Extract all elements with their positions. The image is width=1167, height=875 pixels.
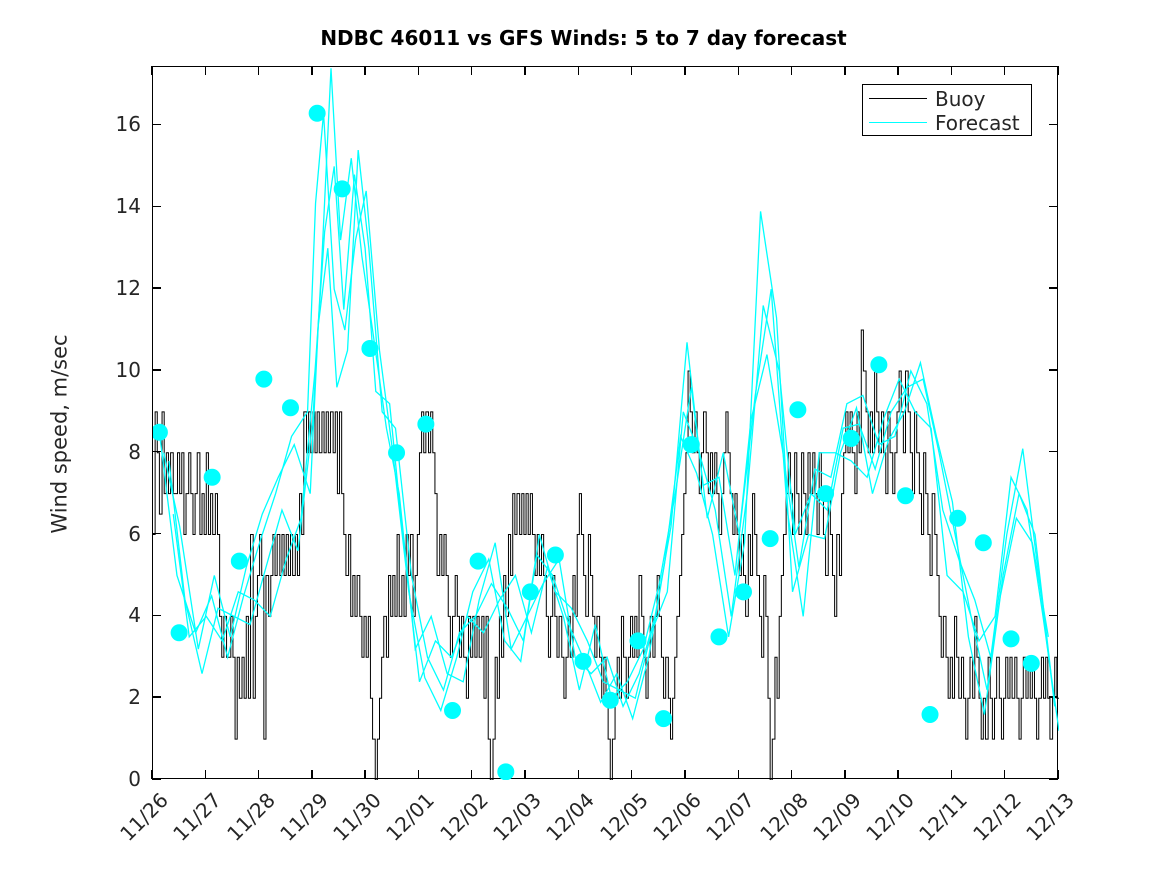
x-tick-label: 12/03 bbox=[481, 788, 546, 853]
page-title: NDBC 46011 vs GFS Winds: 5 to 7 day fore… bbox=[0, 26, 1167, 50]
forecast-marker-point bbox=[470, 553, 486, 569]
legend: Buoy Forecast bbox=[862, 84, 1032, 136]
y-tick-label: 10 bbox=[95, 358, 141, 382]
y-tick-label: 0 bbox=[95, 767, 141, 791]
forecast-marker-point bbox=[736, 584, 752, 600]
plot-area bbox=[152, 66, 1058, 779]
legend-label-forecast: Forecast bbox=[935, 113, 1020, 133]
forecast-marker-point bbox=[922, 707, 938, 723]
y-tick-label: 6 bbox=[95, 522, 141, 546]
y-tick-label: 14 bbox=[95, 194, 141, 218]
forecast-marker-point bbox=[171, 625, 187, 641]
x-tick-label: 12/07 bbox=[694, 788, 759, 853]
forecast-marker-point bbox=[871, 357, 887, 373]
forecast-marker-point bbox=[683, 437, 699, 453]
x-tick-label: 11/30 bbox=[321, 788, 386, 853]
forecast-marker-point bbox=[818, 486, 834, 502]
forecast-series-line bbox=[169, 68, 1055, 706]
forecast-marker-point bbox=[602, 692, 618, 708]
y-tick-label: 12 bbox=[95, 276, 141, 300]
forecast-marker-point bbox=[762, 531, 778, 547]
forecast-marker-point bbox=[950, 510, 966, 526]
forecast-marker-point bbox=[898, 488, 914, 504]
forecast-marker-point bbox=[418, 416, 434, 432]
forecast-marker-point bbox=[1023, 655, 1039, 671]
x-tick-label: 12/02 bbox=[428, 788, 493, 853]
forecast-marker-point bbox=[445, 702, 461, 718]
x-tick-label: 12/10 bbox=[854, 788, 919, 853]
forecast-marker-point bbox=[309, 105, 325, 121]
forecast-marker-point bbox=[711, 629, 727, 645]
figure-canvas: NDBC 46011 vs GFS Winds: 5 to 7 day fore… bbox=[0, 0, 1167, 875]
forecast-marker-point bbox=[1003, 631, 1019, 647]
x-tick-label: 12/13 bbox=[1014, 788, 1079, 853]
forecast-marker-point bbox=[204, 469, 220, 485]
legend-swatch-buoy bbox=[869, 98, 927, 99]
forecast-series-line bbox=[164, 150, 1051, 698]
forecast-marker-point bbox=[153, 424, 167, 440]
forecast-marker-point bbox=[630, 633, 646, 649]
forecast-marker-point bbox=[498, 764, 514, 780]
forecast-marker-point bbox=[362, 340, 378, 356]
x-tick-label: 12/01 bbox=[374, 788, 439, 853]
forecast-marker-point bbox=[547, 547, 563, 563]
x-tick-label: 12/12 bbox=[961, 788, 1026, 853]
x-tick-label: 12/05 bbox=[588, 788, 653, 853]
x-tick-label: 11/26 bbox=[108, 788, 173, 853]
forecast-marker-point bbox=[843, 430, 859, 446]
y-tick-label: 16 bbox=[95, 112, 141, 136]
forecast-marker-point bbox=[389, 445, 405, 461]
forecast-marker-point bbox=[522, 584, 538, 600]
forecast-marker-point bbox=[975, 535, 991, 551]
x-tick-label: 12/08 bbox=[747, 788, 812, 853]
x-tick-label: 11/28 bbox=[214, 788, 279, 853]
forecast-marker-point bbox=[231, 553, 247, 569]
forecast-marker-point bbox=[790, 402, 806, 418]
y-tick-label: 4 bbox=[95, 603, 141, 627]
forecast-marker-point bbox=[283, 400, 299, 416]
y-tick-label: 2 bbox=[95, 685, 141, 709]
legend-item-buoy: Buoy bbox=[863, 86, 1033, 111]
x-tick-label: 11/27 bbox=[161, 788, 226, 853]
plot-svg bbox=[153, 67, 1059, 780]
y-axis-label: Wind speed, m/sec bbox=[48, 107, 72, 762]
forecast-marker-point bbox=[656, 711, 672, 727]
x-tick-label: 12/06 bbox=[641, 788, 706, 853]
forecast-marker-point bbox=[334, 181, 350, 197]
legend-label-buoy: Buoy bbox=[935, 89, 985, 109]
legend-swatch-forecast bbox=[869, 122, 927, 123]
forecast-marker-point bbox=[256, 371, 272, 387]
x-tick-label: 12/09 bbox=[801, 788, 866, 853]
legend-item-forecast: Forecast bbox=[863, 110, 1033, 135]
forecast-marker-point bbox=[575, 653, 591, 669]
x-tick-label: 12/04 bbox=[534, 788, 599, 853]
x-tick-label: 11/29 bbox=[268, 788, 333, 853]
y-tick-label: 8 bbox=[95, 440, 141, 464]
x-tick-label: 12/11 bbox=[907, 788, 972, 853]
